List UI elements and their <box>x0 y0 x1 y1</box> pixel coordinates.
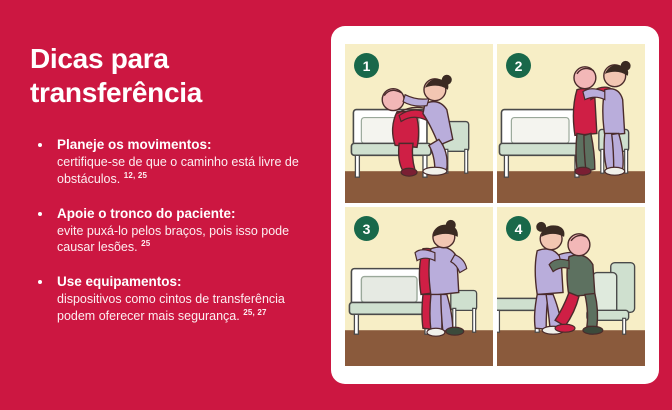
panel-number-badge: 4 <box>506 216 531 241</box>
tips-list: Planeje os movimentos: certifique-se de … <box>30 136 318 324</box>
panel-number-badge: 1 <box>354 53 379 78</box>
bullet-dot-icon <box>38 280 42 284</box>
slide-root: Dicas para transferência Planeje os movi… <box>0 0 672 410</box>
tip-references: 25, 27 <box>243 308 266 317</box>
illustration-panel-4: 4 <box>497 207 645 366</box>
panel-number-badge: 3 <box>354 216 379 241</box>
tip-body: evite puxá-lo pelos braços, pois isso po… <box>57 223 318 257</box>
illustration-panel-2: 2 <box>497 44 645 203</box>
bullet-dot-icon <box>38 143 42 147</box>
illustration-panel-3: 3 <box>345 207 493 366</box>
tip-body: certifique-se de que o caminho está livr… <box>57 154 318 188</box>
tip-body: dispositivos como cintos de transferênci… <box>57 291 318 325</box>
tip-references: 25 <box>141 239 150 248</box>
list-item: Planeje os movimentos: certifique-se de … <box>30 136 318 187</box>
text-column: Dicas para transferência Planeje os movi… <box>0 0 318 410</box>
panel-number-badge: 2 <box>506 53 531 78</box>
page-title: Dicas para transferência <box>30 42 280 110</box>
tip-body-text: evite puxá-lo pelos braços, pois isso po… <box>57 224 289 255</box>
tip-references: 12, 25 <box>124 171 147 180</box>
list-item: Apoie o tronco do paciente: evite puxá-l… <box>30 205 318 256</box>
bullet-dot-icon <box>38 212 42 216</box>
illustration-card-wrapper: 1 <box>318 0 672 410</box>
illustration-grid: 1 <box>345 44 645 366</box>
illustration-card: 1 <box>331 26 659 384</box>
illustration-panel-1: 1 <box>345 44 493 203</box>
tip-lead: Planeje os movimentos: <box>57 136 318 154</box>
tip-body-text: certifique-se de que o caminho está livr… <box>57 155 299 186</box>
list-item: Use equipamentos: dispositivos como cint… <box>30 273 318 324</box>
tip-lead: Apoie o tronco do paciente: <box>57 205 318 223</box>
tip-lead: Use equipamentos: <box>57 273 318 291</box>
